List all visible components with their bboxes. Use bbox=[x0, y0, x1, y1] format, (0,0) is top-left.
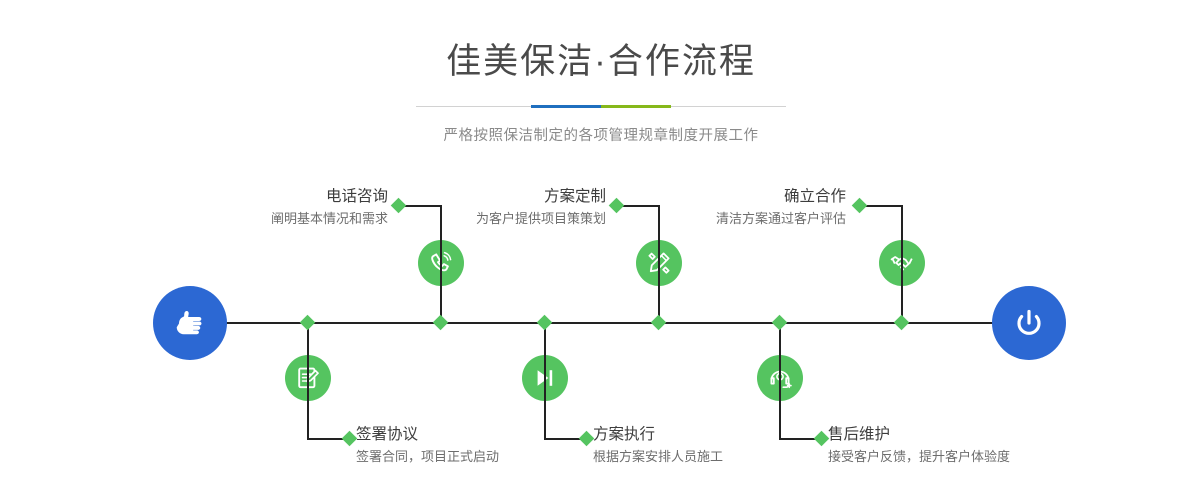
connector-vline-execute bbox=[544, 322, 546, 439]
power-icon bbox=[1009, 303, 1049, 343]
step-title: 售后维护 bbox=[828, 426, 1078, 444]
step-title: 签署协议 bbox=[356, 426, 586, 444]
step-label-support: 售后维护 接受客户反馈，提升客户体验度 bbox=[828, 426, 1078, 466]
step-subtitle: 阐明基本情况和需求 bbox=[180, 210, 388, 228]
step-subtitle: 签署合同，项目正式启动 bbox=[356, 448, 586, 466]
timeline-diamond-execute bbox=[537, 315, 553, 331]
step-title: 确立合作 bbox=[638, 188, 846, 206]
connector-diamond-agreement bbox=[342, 431, 358, 447]
timeline-diamond-agreement bbox=[300, 315, 316, 331]
connector-vline-agreement bbox=[307, 322, 309, 439]
connector-diamond-cooperation bbox=[852, 198, 868, 214]
step-label-design: 方案定制 为客户提供项目策策划 bbox=[398, 188, 606, 228]
step-label-cooperation: 确立合作 清洁方案通过客户评估 bbox=[638, 188, 846, 228]
step-title: 方案定制 bbox=[398, 188, 606, 206]
pointing-hand-icon bbox=[170, 303, 210, 343]
timeline-start-node[interactable] bbox=[153, 286, 227, 360]
step-subtitle: 根据方案安排人员施工 bbox=[593, 448, 823, 466]
step-subtitle: 为客户提供项目策策划 bbox=[398, 210, 606, 228]
step-title: 电话咨询 bbox=[180, 188, 388, 206]
step-label-agreement: 签署协议 签署合同，项目正式启动 bbox=[356, 426, 586, 466]
timeline-end-node[interactable] bbox=[992, 286, 1066, 360]
step-label-execute: 方案执行 根据方案安排人员施工 bbox=[593, 426, 823, 466]
connector-vline-support bbox=[779, 322, 781, 439]
connector-diamond-design bbox=[609, 198, 625, 214]
timeline-diamond-design bbox=[651, 315, 667, 331]
connector-vline-cooperation bbox=[901, 205, 903, 322]
timeline-diamond-cooperation bbox=[894, 315, 910, 331]
infographic-canvas: 佳美保洁·合作流程 严格按照保洁制定的各项管理规章制度开展工作 bbox=[0, 0, 1202, 502]
timeline-diamond-phone bbox=[433, 315, 449, 331]
step-title: 方案执行 bbox=[593, 426, 823, 444]
process-timeline: 电话咨询 阐明基本情况和需求 签署协议 签署合同，项目正式启动 bbox=[0, 0, 1202, 502]
timeline-diamond-support bbox=[772, 315, 788, 331]
step-subtitle: 清洁方案通过客户评估 bbox=[638, 210, 846, 228]
step-label-phone: 电话咨询 阐明基本情况和需求 bbox=[180, 188, 388, 228]
step-subtitle: 接受客户反馈，提升客户体验度 bbox=[828, 448, 1078, 466]
